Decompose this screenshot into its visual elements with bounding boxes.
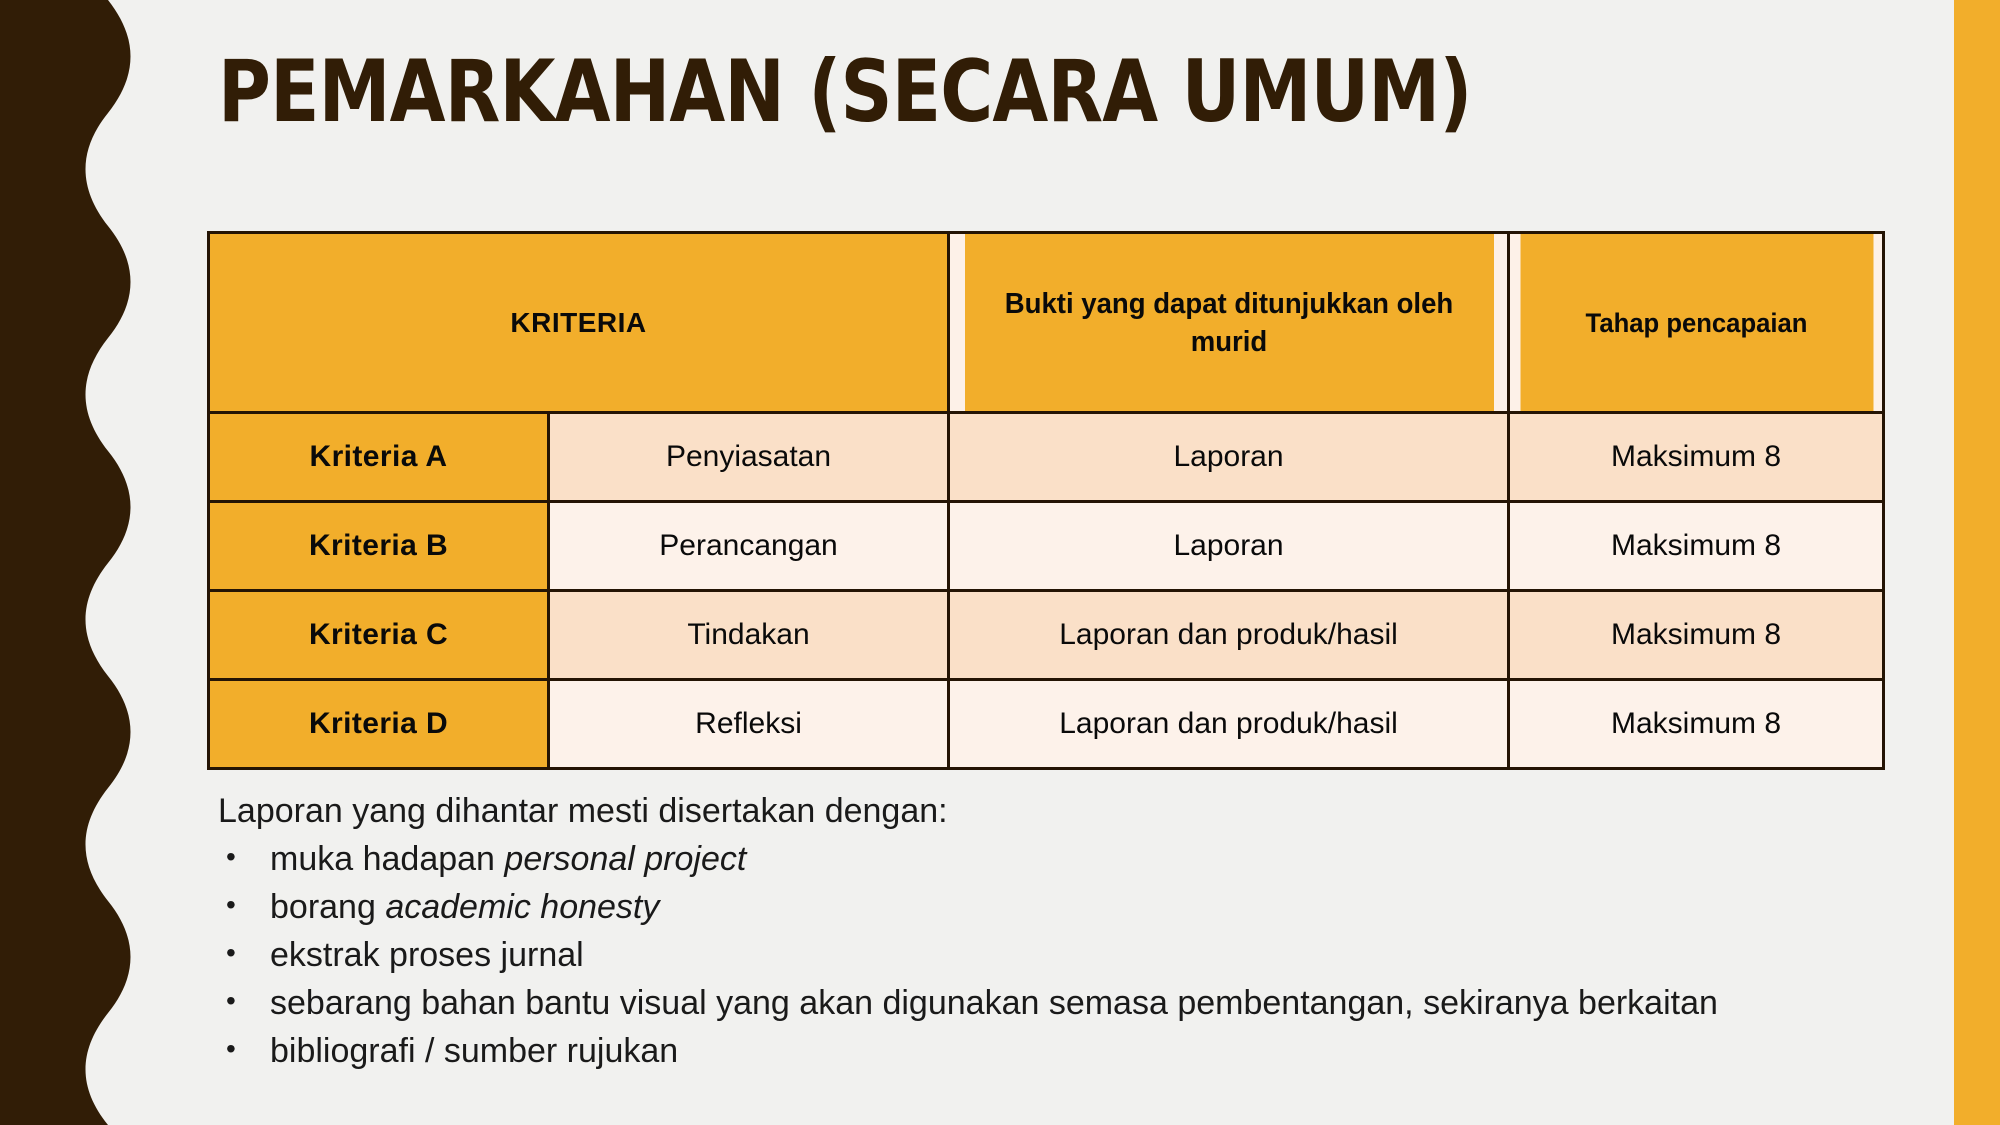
table-row: Kriteria D Refleksi Laporan dan produk/h… xyxy=(209,680,1884,769)
cell-criteria-description: Refleksi xyxy=(549,680,949,769)
cell-criteria-bukti: Laporan dan produk/hasil xyxy=(949,591,1509,680)
table-row: Kriteria B Perancangan Laporan Maksimum … xyxy=(209,502,1884,591)
notes-list: muka hadapan personal project borang aca… xyxy=(218,836,1898,1074)
cell-criteria-tahap: Maksimum 8 xyxy=(1509,680,1884,769)
wavy-brown-edge-icon xyxy=(0,0,160,1125)
page-title: PEMARKAHAN (SECARA UMUM) xyxy=(218,44,1562,140)
cell-criteria-description: Perancangan xyxy=(549,502,949,591)
cell-criteria-label: Kriteria A xyxy=(209,413,549,502)
cell-criteria-tahap: Maksimum 8 xyxy=(1509,502,1884,591)
column-header-bukti: Bukti yang dapat ditunjukkan oleh murid xyxy=(963,233,1495,413)
column-header-kriteria: KRITERIA xyxy=(209,233,949,413)
cell-criteria-label: Kriteria B xyxy=(209,502,549,591)
notes-intro: Laporan yang dihantar mesti disertakan d… xyxy=(218,788,1898,834)
cell-criteria-description: Tindakan xyxy=(549,591,949,680)
table-row: Kriteria A Penyiasatan Laporan Maksimum … xyxy=(209,413,1884,502)
list-item: muka hadapan personal project xyxy=(218,836,1898,882)
cell-criteria-tahap: Maksimum 8 xyxy=(1509,591,1884,680)
cell-criteria-label: Kriteria C xyxy=(209,591,549,680)
orange-accent-bar xyxy=(1954,0,2000,1125)
cell-criteria-bukti: Laporan xyxy=(949,502,1509,591)
marking-criteria-table: KRITERIA Bukti yang dapat ditunjukkan ol… xyxy=(207,231,1885,770)
cell-criteria-label: Kriteria D xyxy=(209,680,549,769)
table-header-row: KRITERIA Bukti yang dapat ditunjukkan ol… xyxy=(209,233,1884,413)
list-item-text: muka hadapan personal project xyxy=(270,840,746,878)
notes-block: Laporan yang dihantar mesti disertakan d… xyxy=(218,788,1898,1076)
list-item: bibliografi / sumber rujukan xyxy=(218,1028,1898,1074)
slide-canvas: PEMARKAHAN (SECARA UMUM) KRITERIA Bukti … xyxy=(0,0,2000,1125)
list-item: borang academic honesty xyxy=(218,884,1898,930)
list-item-text: ekstrak proses jurnal xyxy=(270,936,584,974)
cell-criteria-tahap: Maksimum 8 xyxy=(1509,413,1884,502)
list-item: sebarang bahan bantu visual yang akan di… xyxy=(218,980,1898,1026)
cell-criteria-description: Penyiasatan xyxy=(549,413,949,502)
cell-criteria-bukti: Laporan xyxy=(949,413,1509,502)
list-item-text: bibliografi / sumber rujukan xyxy=(270,1032,678,1070)
list-item-text: sebarang bahan bantu visual yang akan di… xyxy=(270,984,1718,1022)
cell-criteria-bukti: Laporan dan produk/hasil xyxy=(949,680,1509,769)
list-item: ekstrak proses jurnal xyxy=(218,932,1898,978)
column-header-tahap-pencapaian: Tahap pencapaian xyxy=(1518,233,1874,413)
table-row: Kriteria C Tindakan Laporan dan produk/h… xyxy=(209,591,1884,680)
list-item-text: borang academic honesty xyxy=(270,888,659,926)
